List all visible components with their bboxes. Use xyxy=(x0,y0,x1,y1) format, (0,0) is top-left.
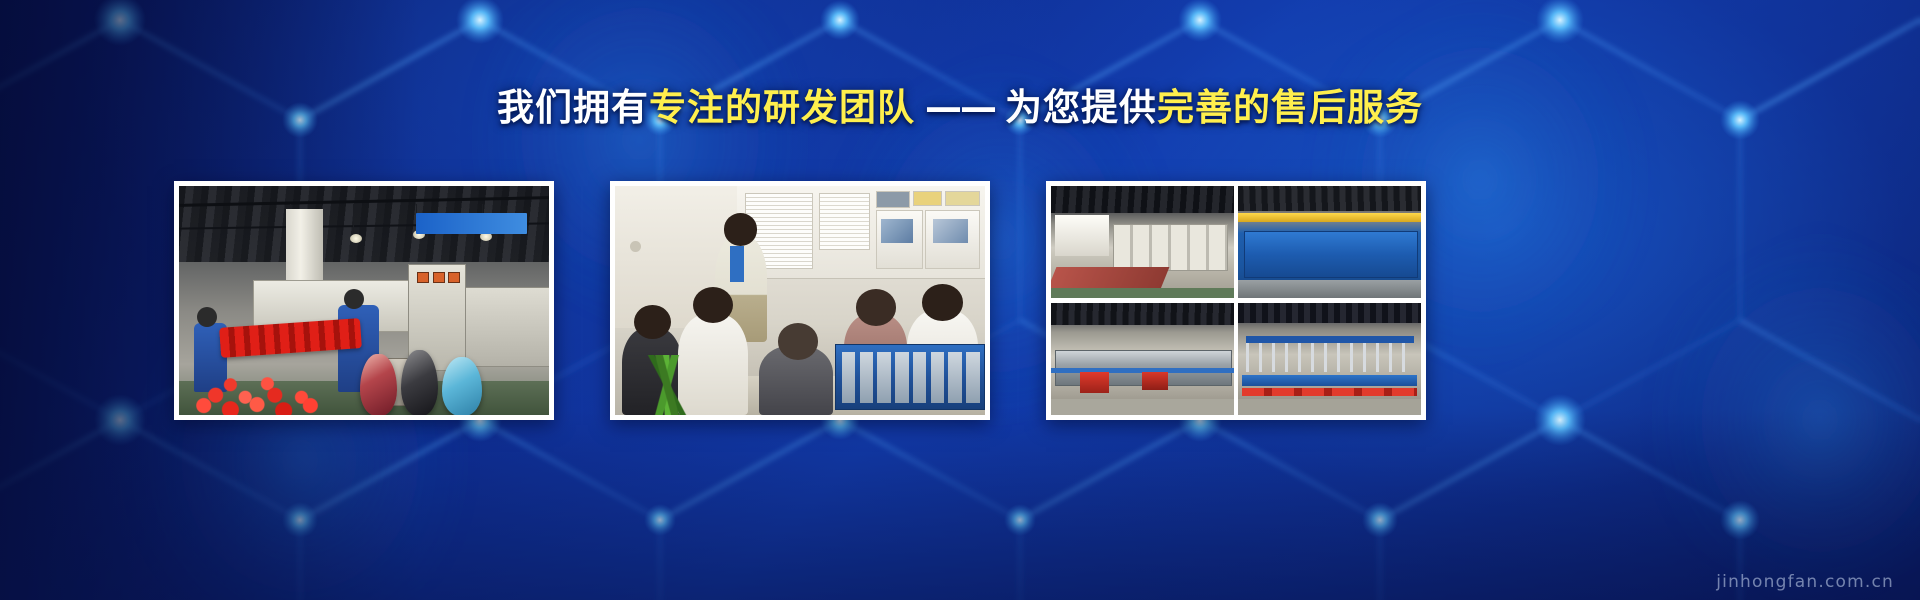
headline-segment-2: 专注的研发团队 xyxy=(649,86,915,129)
headline-segment-4: 完善的售后服务 xyxy=(1157,86,1423,129)
photo-quadrant-top-left xyxy=(1051,186,1234,298)
gallery-photo-equipment-grid[interactable] xyxy=(1046,181,1426,420)
bottom-vignette xyxy=(0,410,1920,600)
photo-quadrant-bottom-right xyxy=(1238,303,1421,415)
photo-quadrant-bottom-left xyxy=(1051,303,1234,415)
headline-dash: —— xyxy=(915,86,1005,129)
gallery-photo-rnd-meeting[interactable] xyxy=(610,181,990,420)
photo-production-line xyxy=(179,186,549,415)
photo-rnd-meeting xyxy=(615,186,985,415)
site-watermark: jinhongfan.com.cn xyxy=(1716,572,1894,592)
headline-segment-3: 为您提供 xyxy=(1005,86,1157,129)
photo-quadrant-top-right xyxy=(1238,186,1421,298)
photo-equipment-grid xyxy=(1051,186,1421,415)
promo-banner: 我们拥有专注的研发团队——为您提供完善的售后服务 xyxy=(0,0,1920,600)
gallery-photo-production-line[interactable] xyxy=(174,181,554,420)
headline-segment-1: 我们拥有 xyxy=(497,86,649,129)
page-title: 我们拥有专注的研发团队——为您提供完善的售后服务 xyxy=(0,86,1920,130)
